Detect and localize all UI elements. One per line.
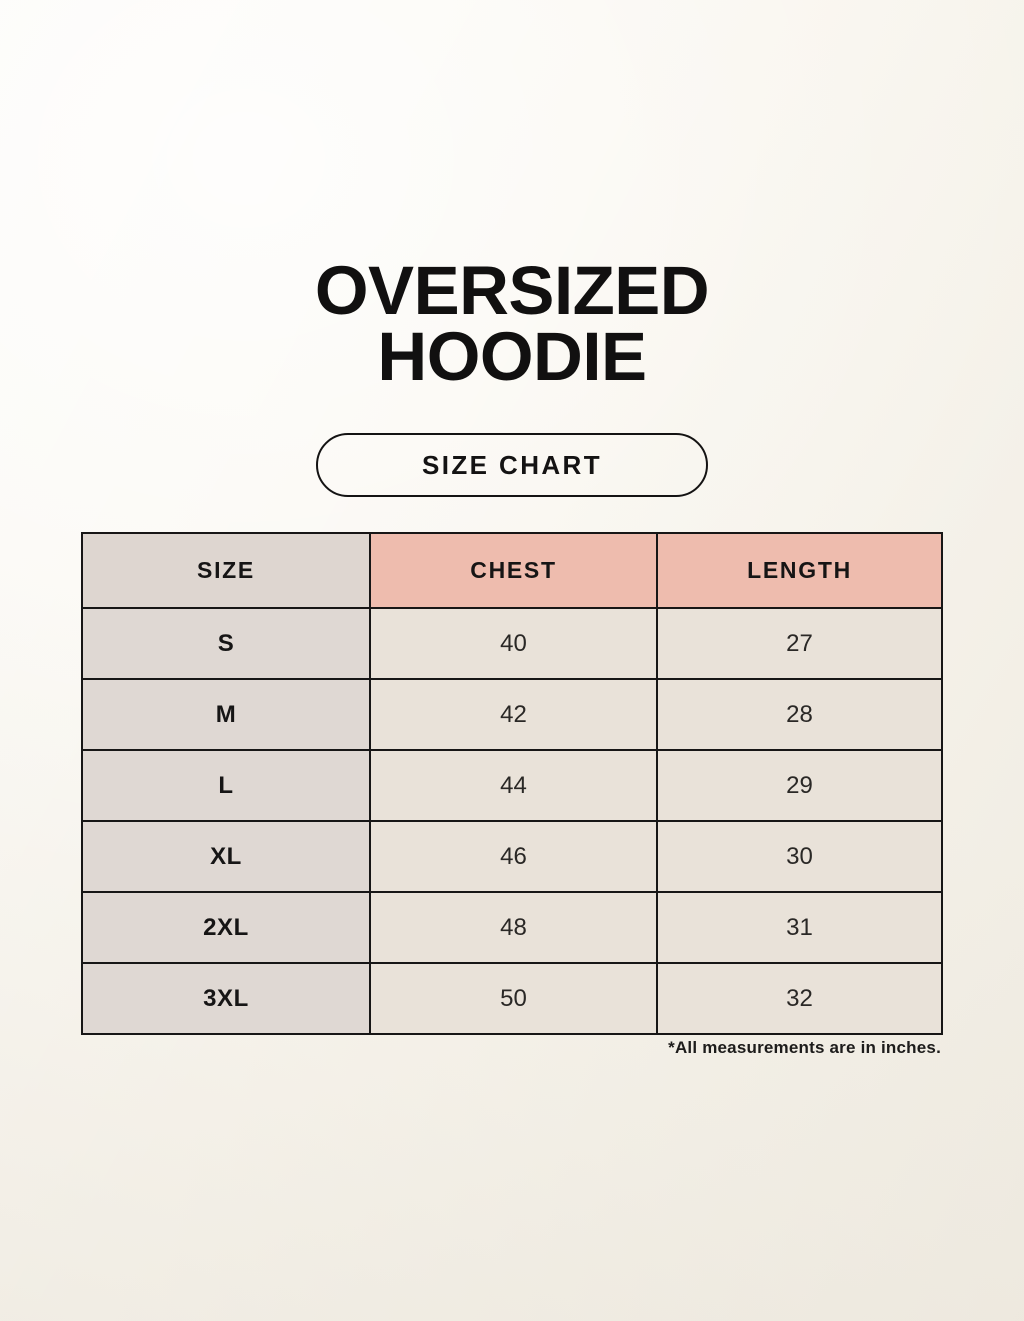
table-row: S 40 27 (82, 608, 942, 679)
size-chart-poster: OVERSIZED HOODIE SIZE CHART SIZE CHEST L… (0, 0, 1024, 1321)
cell-size: L (82, 750, 370, 821)
table-row: M 42 28 (82, 679, 942, 750)
page-title: OVERSIZED HOODIE (0, 258, 1024, 390)
cell-size: 3XL (82, 963, 370, 1034)
size-chart-badge-label: SIZE CHART (422, 450, 602, 481)
table-row: L 44 29 (82, 750, 942, 821)
cell-size: XL (82, 821, 370, 892)
cell-chest: 44 (370, 750, 657, 821)
cell-length: 30 (657, 821, 942, 892)
cell-chest: 48 (370, 892, 657, 963)
cell-size: 2XL (82, 892, 370, 963)
column-header-chest: CHEST (370, 533, 657, 608)
cell-length: 32 (657, 963, 942, 1034)
size-chart-badge-container: SIZE CHART (0, 433, 1024, 497)
cell-chest: 46 (370, 821, 657, 892)
cell-chest: 42 (370, 679, 657, 750)
cell-size: S (82, 608, 370, 679)
size-table: SIZE CHEST LENGTH S 40 27 M 42 28 L (81, 532, 943, 1035)
table-row: XL 46 30 (82, 821, 942, 892)
size-table-header: SIZE CHEST LENGTH (82, 533, 942, 608)
cell-length: 31 (657, 892, 942, 963)
column-header-length: LENGTH (657, 533, 942, 608)
size-table-container: SIZE CHEST LENGTH S 40 27 M 42 28 L (81, 532, 941, 1035)
cell-chest: 40 (370, 608, 657, 679)
size-chart-badge: SIZE CHART (316, 433, 708, 497)
size-table-body: S 40 27 M 42 28 L 44 29 XL 46 30 (82, 608, 942, 1034)
column-header-size: SIZE (82, 533, 370, 608)
page-title-line-1: OVERSIZED (0, 258, 1024, 324)
table-header-row: SIZE CHEST LENGTH (82, 533, 942, 608)
measurement-units-note: *All measurements are in inches. (81, 1038, 941, 1058)
cell-length: 27 (657, 608, 942, 679)
page-title-line-2: HOODIE (0, 324, 1024, 390)
cell-chest: 50 (370, 963, 657, 1034)
cell-length: 29 (657, 750, 942, 821)
cell-size: M (82, 679, 370, 750)
table-row: 2XL 48 31 (82, 892, 942, 963)
table-row: 3XL 50 32 (82, 963, 942, 1034)
cell-length: 28 (657, 679, 942, 750)
